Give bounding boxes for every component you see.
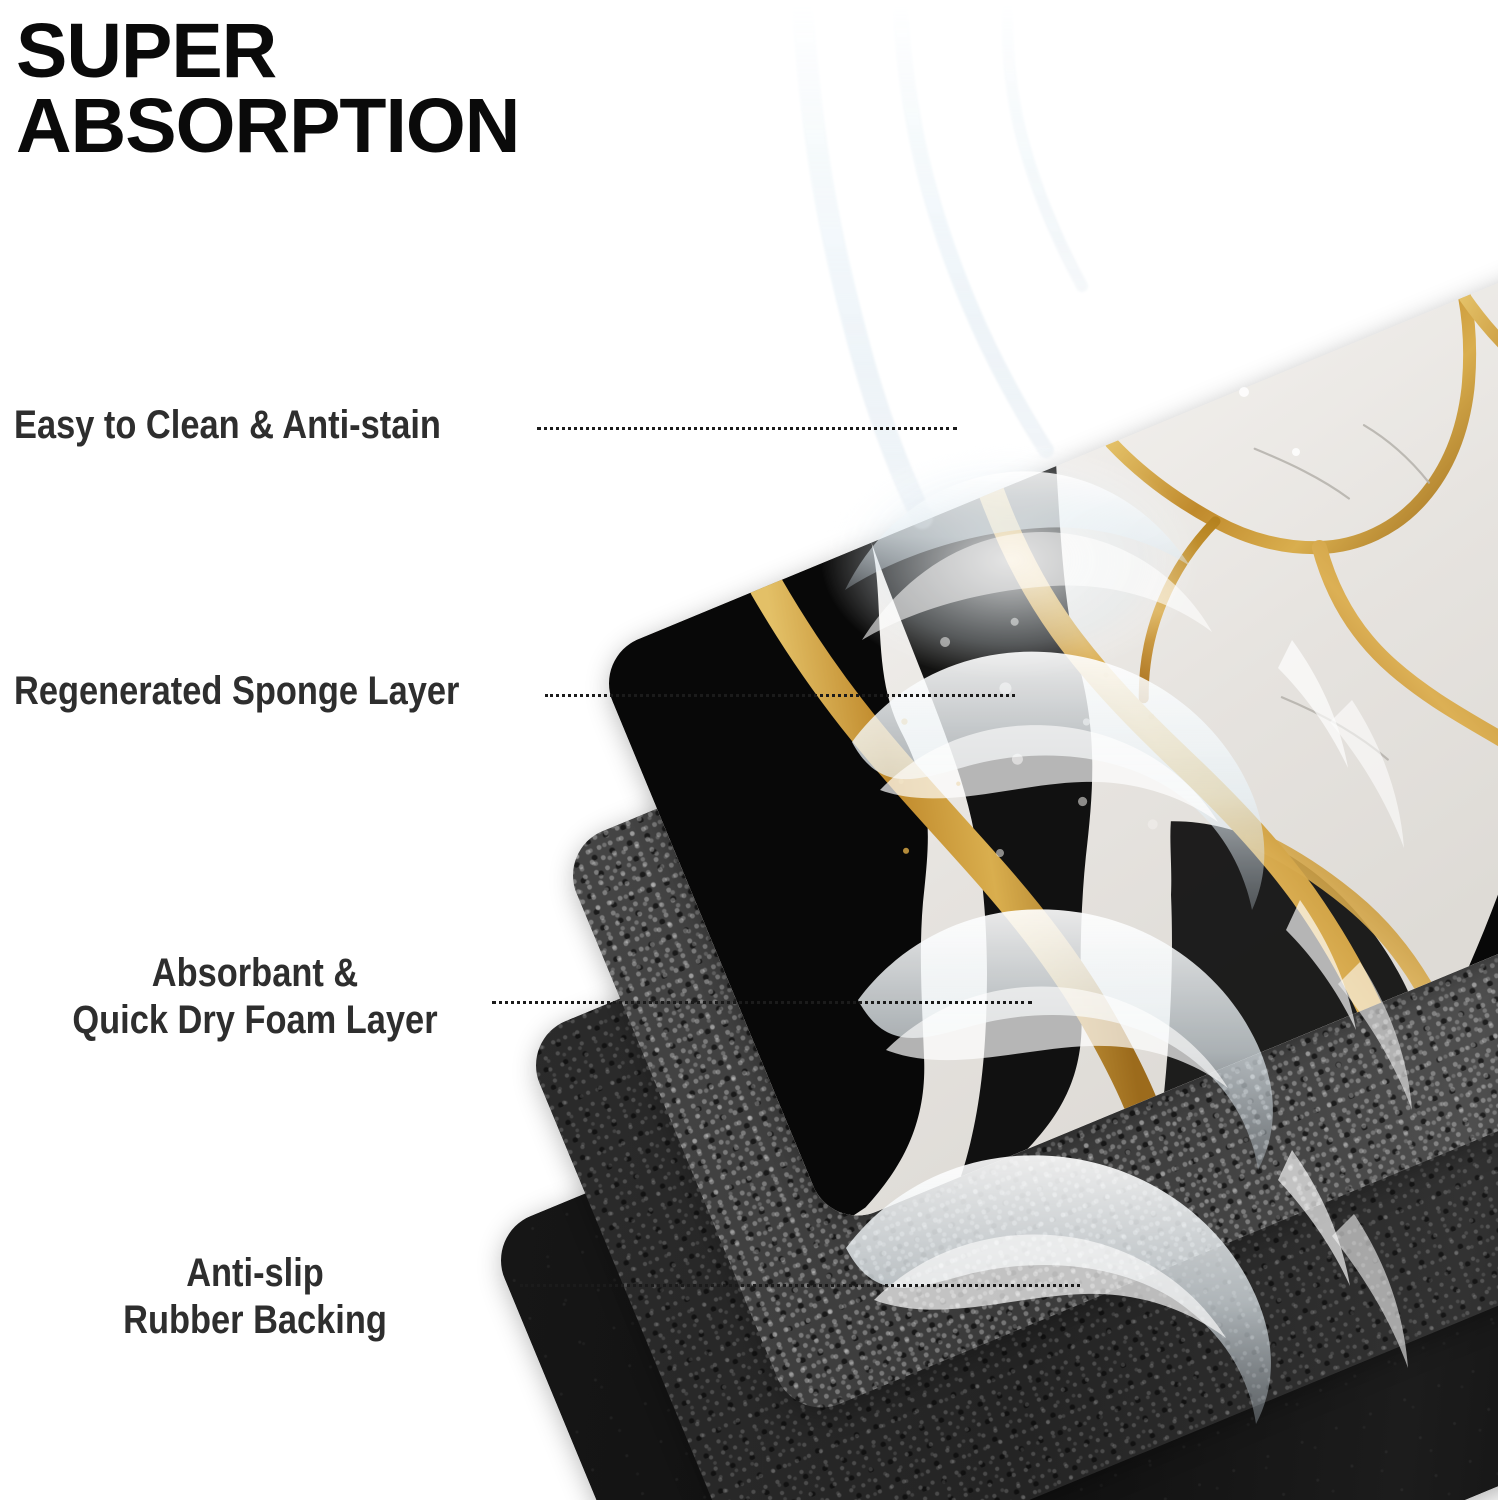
feature-label-foam: Absorbant & Quick Dry Foam Layer <box>62 950 449 1044</box>
feature-label-easy-clean: Easy to Clean & Anti-stain <box>14 402 441 449</box>
leader-line-foam <box>492 1001 1032 1004</box>
feature-label-sponge: Regenerated Sponge Layer <box>14 668 459 715</box>
infographic-canvas: SUPER ABSORPTION Easy to Clean & Anti-st… <box>0 0 1498 1500</box>
page-title: SUPER ABSORPTION <box>16 14 656 165</box>
leader-line-sponge <box>545 694 1015 697</box>
leader-line-easy-clean <box>537 427 957 430</box>
feature-label-rubber: Anti-slip Rubber Backing <box>83 1250 427 1344</box>
leader-line-rubber <box>520 1284 1080 1287</box>
